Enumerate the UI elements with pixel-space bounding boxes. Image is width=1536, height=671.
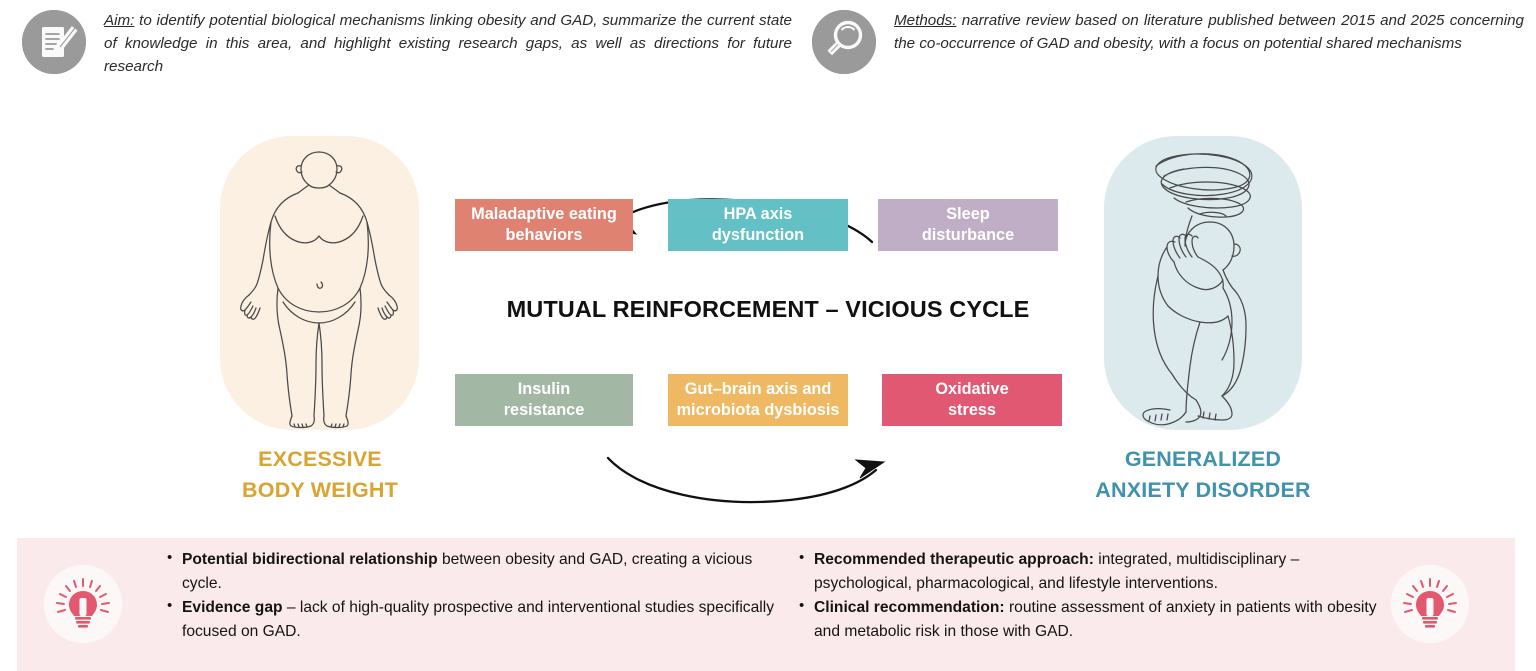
mechanism-line1: Insulin xyxy=(504,379,585,400)
methods-block: Methods: narrative review based on liter… xyxy=(812,8,1524,74)
center-title: MUTUAL REINFORCEMENT – VICIOUS CYCLE xyxy=(0,296,1536,323)
methods-text: Methods: narrative review based on liter… xyxy=(894,8,1524,55)
list-item: Potential bidirectional relationship bet… xyxy=(167,548,787,595)
mechanism-box-gut-brain-axis[interactable]: Gut–brain axis and microbiota dysbiosis xyxy=(668,374,848,426)
lightbulb-icon xyxy=(44,565,122,643)
mechanism-line2: microbiota dysbiosis xyxy=(677,400,840,421)
mechanism-line1: Sleep xyxy=(922,204,1014,225)
anxiety-figure-panel xyxy=(1104,136,1302,430)
obesity-label-line2: BODY WEIGHT xyxy=(180,475,460,506)
list-item: Recommended therapeutic approach: integr… xyxy=(799,548,1399,595)
lightbulb-badge-left xyxy=(44,565,122,643)
lightbulb-icon xyxy=(1391,565,1469,643)
anxiety-label: GENERALIZED ANXIETY DISORDER xyxy=(1060,444,1346,505)
document-pencil-icon xyxy=(22,10,86,74)
anxiety-label-line1: GENERALIZED xyxy=(1060,444,1346,475)
obesity-label-line1: EXCESSIVE xyxy=(180,444,460,475)
obese-body-illustration xyxy=(220,136,419,430)
mechanism-line2: resistance xyxy=(504,400,585,421)
conclusions-panel: Potential bidirectional relationship bet… xyxy=(17,538,1515,671)
mechanism-line1: Maladaptive eating xyxy=(471,204,617,225)
obesity-figure-panel xyxy=(220,136,419,430)
mechanism-box-hpa-axis[interactable]: HPA axis dysfunction xyxy=(668,199,848,251)
methods-label: Methods: xyxy=(894,12,956,29)
obesity-label: EXCESSIVE BODY WEIGHT xyxy=(180,444,460,505)
mechanism-box-oxidative-stress[interactable]: Oxidative stress xyxy=(882,374,1062,426)
mechanism-line1: HPA axis xyxy=(712,204,804,225)
conclusion-bold: Recommended therapeutic approach: xyxy=(814,551,1094,568)
conclusions-left-column: Potential bidirectional relationship bet… xyxy=(167,548,787,645)
mechanism-line1: Gut–brain axis and xyxy=(677,379,840,400)
magnifier-icon xyxy=(812,10,876,74)
vicious-cycle-diagram: EXCESSIVE BODY WEIGHT xyxy=(0,96,1536,536)
bottom-arrow-anxiety-direction xyxy=(608,458,876,502)
mechanism-line2: behaviors xyxy=(471,225,617,246)
mechanism-line2: dysfunction xyxy=(712,225,804,246)
lightbulb-badge-right xyxy=(1391,565,1469,643)
mechanism-line1: Oxidative xyxy=(935,379,1008,400)
list-item: Evidence gap – lack of high-quality pros… xyxy=(167,596,787,643)
aim-text: Aim: to identify potential biological me… xyxy=(104,8,792,78)
mechanism-box-sleep-disturbance[interactable]: Sleep disturbance xyxy=(878,199,1058,251)
header-row: Aim: to identify potential biological me… xyxy=(0,0,1536,96)
mechanism-line2: stress xyxy=(935,400,1008,421)
mechanism-box-maladaptive-eating[interactable]: Maladaptive eating behaviors xyxy=(455,199,633,251)
list-item: Clinical recommendation: routine assessm… xyxy=(799,596,1399,643)
anxious-person-illustration xyxy=(1104,136,1302,430)
mechanism-line2: disturbance xyxy=(922,225,1014,246)
anxiety-label-line2: ANXIETY DISORDER xyxy=(1060,475,1346,506)
aim-label: Aim: xyxy=(104,12,134,29)
conclusion-bold: Clinical recommendation: xyxy=(814,599,1005,616)
conclusions-right-column: Recommended therapeutic approach: integr… xyxy=(799,548,1399,645)
aim-block: Aim: to identify potential biological me… xyxy=(22,8,792,78)
conclusion-bold: Potential bidirectional relationship xyxy=(182,551,438,568)
bottom-arrow-head xyxy=(856,460,884,478)
mechanism-box-insulin-resistance[interactable]: Insulin resistance xyxy=(455,374,633,426)
conclusion-bold: Evidence gap xyxy=(182,599,283,616)
methods-body: narrative review based on literature pub… xyxy=(894,12,1524,52)
aim-body: to identify potential biological mechani… xyxy=(104,12,792,75)
